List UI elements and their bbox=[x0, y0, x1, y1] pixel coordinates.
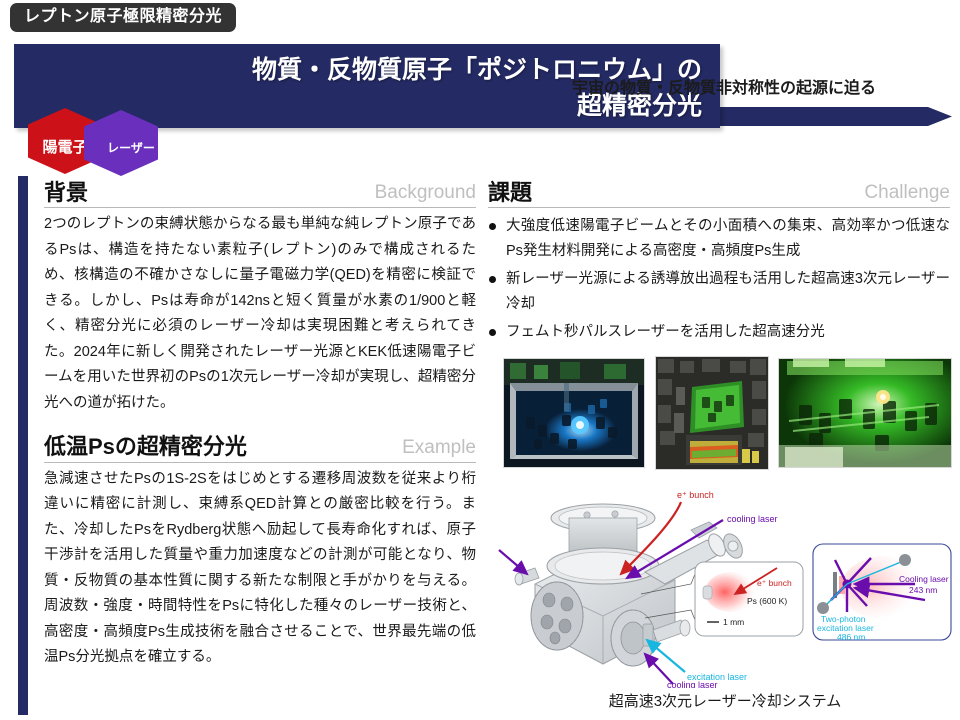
inset-label-excitation-nm: 486 nm bbox=[837, 632, 865, 642]
green-laser-setup-photo bbox=[655, 356, 769, 470]
challenge-bullet-text: 大強度低速陽電子ビームとその小面積への集束、高効率かつ低速なPs発生材料開発によ… bbox=[506, 218, 950, 259]
list-item: フェムト秒パルスレーザーを活用した超高速分光 bbox=[488, 320, 950, 345]
list-item: 新レーザー光源による誘導放出過程も活用した超高速3次元レーザー冷却 bbox=[488, 267, 950, 317]
inset-label-scale: 1 mm bbox=[723, 617, 744, 627]
section-header-challenge: 課題 Challenge bbox=[488, 180, 950, 208]
section-header-example: 低温Psの超精密分光 Example bbox=[44, 434, 476, 462]
section-title-challenge-en: Challenge bbox=[864, 182, 950, 205]
diagram-label-cooling-laser-bottom: cooling laser bbox=[667, 680, 718, 688]
left-column: 背景 Background 2つのレプトンの束縛状態からなる最も単純な純レプトン… bbox=[44, 180, 476, 671]
challenge-bullet-text: フェムト秒パルスレーザーを活用した超高速分光 bbox=[506, 324, 825, 340]
topic-tag: レプトン原子極限精密分光 bbox=[10, 3, 236, 32]
background-body-text: 2つのレプトンの束縛状態からなる最も単純な純レプトン原子であるPsは、構造を持た… bbox=[44, 212, 476, 416]
green-laser-optics-photo bbox=[778, 358, 952, 468]
hexagon-positron-label: 陽電子 bbox=[42, 136, 87, 157]
section-title-challenge-jp: 課題 bbox=[488, 180, 532, 205]
section-title-background-en: Background bbox=[375, 182, 476, 205]
inset-label-ps-temp: Ps (600 K) bbox=[747, 596, 787, 606]
diagram-caption: 超高速3次元レーザー冷却システム bbox=[495, 690, 955, 711]
slide-root: レプトン原子極限精密分光 宇宙の物質・反物質非対称性の起源に迫る 物質・反物質原… bbox=[0, 0, 960, 720]
list-item: 大強度低速陽電子ビームとその小面積への集束、高効率かつ低速なPs発生材料開発によ… bbox=[488, 214, 950, 264]
section-title-background-jp: 背景 bbox=[44, 180, 88, 205]
project-logo: 陽電子 レーザー bbox=[28, 108, 188, 178]
inset-label-cooling-laser: Cooling laser bbox=[899, 574, 949, 584]
challenge-bullet-text: 新レーザー光源による誘導放出過程も活用した超高速3次元レーザー冷却 bbox=[506, 271, 950, 312]
photo-row bbox=[503, 356, 953, 468]
bullet-dot-icon bbox=[489, 223, 496, 230]
left-accent-bar bbox=[18, 176, 28, 715]
diagram-label-e-bunch-top: e⁺ bunch bbox=[677, 490, 714, 500]
diagram-inset-lasers: Cooling laser 243 nm Two-photon excitati… bbox=[813, 544, 951, 642]
bullet-dot-icon bbox=[489, 276, 496, 283]
subtitle-text: 宇宙の物質・反物質非対称性の起源に迫る bbox=[572, 74, 952, 98]
hexagon-laser-label: レーザー bbox=[107, 139, 155, 156]
challenge-bullet-list: 大強度低速陽電子ビームとその小面積への集束、高効率かつ低速なPs発生材料開発によ… bbox=[488, 214, 950, 345]
example-body-text: 急減速させたPsの1S-2Sをはじめとする遷移周波数を従来より桁違いに精密に計測… bbox=[44, 467, 476, 671]
section-title-example-en: Example bbox=[402, 437, 476, 460]
cooling-system-diagram: e⁺ bunch cooling laser excitation laser … bbox=[495, 488, 955, 688]
bullet-dot-icon bbox=[489, 329, 496, 336]
diagram-label-cooling-laser-top: cooling laser bbox=[727, 514, 778, 524]
right-column: 課題 Challenge 大強度低速陽電子ビームとその小面積への集束、高効率かつ… bbox=[488, 180, 950, 348]
hexagon-laser: レーザー bbox=[84, 110, 158, 176]
inset-label-cooling-nm: 243 nm bbox=[909, 585, 937, 595]
inset-label-e-bunch: e⁺ bunch bbox=[757, 578, 792, 588]
section-title-example-jp: 低温Psの超精密分光 bbox=[44, 434, 247, 459]
section-header-background: 背景 Background bbox=[44, 180, 476, 208]
diagram-inset-ps: e⁺ bunch Ps (600 K) 1 mm bbox=[695, 562, 803, 636]
blue-laser-optical-table-photo bbox=[503, 358, 645, 468]
